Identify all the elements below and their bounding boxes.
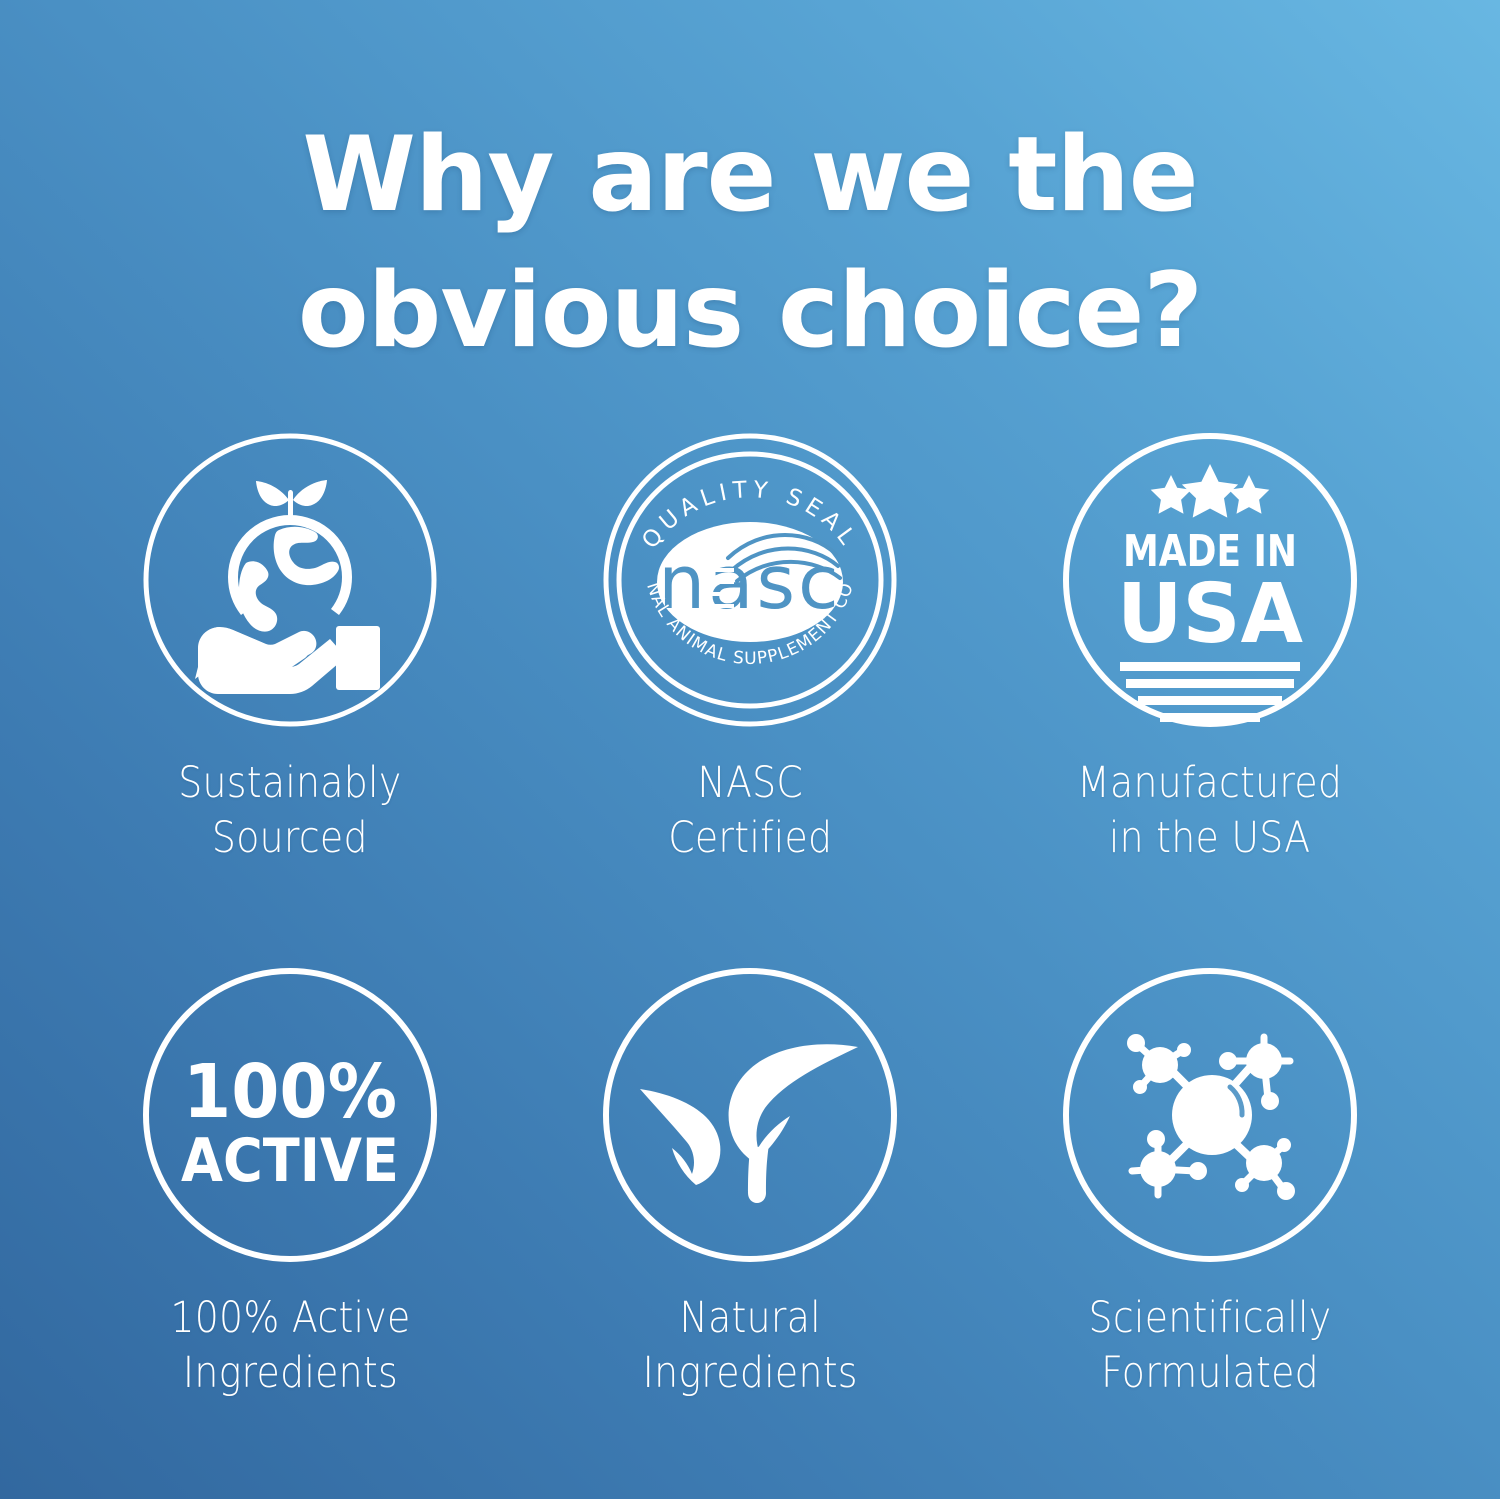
benefit-caption: Scientifically Formulated bbox=[1089, 1291, 1332, 1401]
page-title: Why are we the obvious choice? bbox=[0, 108, 1500, 380]
benefit-item-100-percent-active: 100% ACTIVE 100% Active Ingredients bbox=[60, 965, 520, 1499]
active-text: ACTIVE bbox=[181, 1126, 399, 1196]
usa-text: USA bbox=[1117, 567, 1304, 662]
benefit-item-natural-ingredients: Natural Ingredients bbox=[520, 965, 980, 1499]
two-leaves-icon bbox=[600, 965, 900, 1265]
benefit-caption: NASC Certified bbox=[668, 756, 832, 866]
benefit-caption: Natural Ingredients bbox=[642, 1291, 857, 1401]
benefit-caption: Manufactured in the USA bbox=[1077, 756, 1342, 866]
one-hundred-percent-active-icon: 100% ACTIVE bbox=[140, 965, 440, 1265]
benefit-item-sustainably-sourced: Sustainably Sourced bbox=[60, 430, 520, 965]
nasc-wordmark: nasc bbox=[658, 540, 842, 626]
nasc-quality-seal-icon: nasc QUALITY SEAL NATIONAL ANIMAL SUPPLE… bbox=[600, 430, 900, 730]
page-title-line-2: obvious choice? bbox=[0, 244, 1500, 380]
globe-in-hand-with-sprout-icon bbox=[140, 430, 440, 730]
page-title-line-1: Why are we the bbox=[0, 108, 1500, 244]
benefit-item-nasc-certified: nasc QUALITY SEAL NATIONAL ANIMAL SUPPLE… bbox=[520, 430, 980, 965]
benefit-item-scientifically-formulated: Scientifically Formulated bbox=[980, 965, 1440, 1499]
benefit-caption: 100% Active Ingredients bbox=[170, 1291, 410, 1401]
made-in-usa-icon: MADE IN USA bbox=[1060, 430, 1360, 730]
benefit-caption: Sustainably Sourced bbox=[178, 756, 401, 866]
percent-value-text: 100% bbox=[183, 1049, 397, 1135]
molecule-icon bbox=[1060, 965, 1360, 1265]
benefit-item-made-in-usa: MADE IN USA Manufactured in the USA bbox=[980, 430, 1440, 965]
benefits-grid: Sustainably Sourced bbox=[60, 430, 1440, 1499]
poster-canvas: Why are we the obvious choice? bbox=[0, 0, 1500, 1499]
